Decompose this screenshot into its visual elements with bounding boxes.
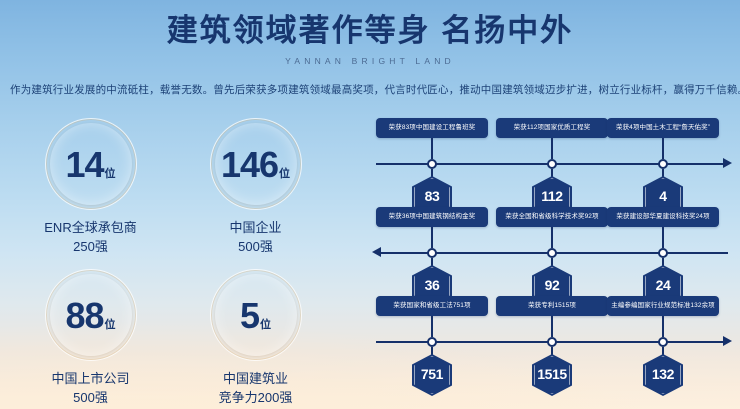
award-count-hexagon: 132	[643, 354, 683, 396]
node-stem	[431, 316, 433, 337]
medallion-ring	[210, 118, 302, 210]
node-stem	[662, 227, 664, 248]
award-count-hexagon: 751	[412, 354, 452, 396]
stat-medallion: 14 位	[45, 118, 137, 210]
award-count-hexagon: 1515	[532, 354, 572, 396]
stat-label-line1: ENR全球承包商	[44, 220, 136, 235]
description-text: 作为建筑行业发展的中流砥柱，载誉无数。曾先后荣获多项建筑领域最高奖项，代言时代匠…	[0, 82, 740, 97]
award-label: 荣获全国和省级科学技术奖92项	[496, 207, 608, 227]
node-dot-icon	[547, 159, 557, 169]
node-stem	[662, 138, 664, 159]
timeline-row: 荣获36项中国建筑钢结构金奖 36 荣获全国和省级科学技术奖92项	[372, 207, 732, 296]
stat-label: 中国企业 500强	[173, 219, 338, 257]
node-stem	[551, 138, 553, 159]
timeline-arrow-icon	[723, 158, 732, 168]
stat-label-line2: 竞争力200强	[173, 389, 338, 408]
stat-item: 88 位 中国上市公司 500强	[8, 269, 173, 408]
medallion-ring	[45, 269, 137, 361]
stat-label-line2: 250强	[8, 238, 173, 257]
award-label: 荣获112项国家优质工程奖	[496, 118, 608, 138]
stat-medallion: 146 位	[210, 118, 302, 210]
stat-label: 中国上市公司 500强	[8, 370, 173, 408]
stat-item: 146 位 中国企业 500强	[173, 118, 338, 257]
award-label: 荣获4项中国土木工程“詹天佑奖”	[607, 118, 719, 138]
award-label: 荣获建设部华夏建设科技奖24项	[607, 207, 719, 227]
award-label: 主编参编国家行业规范标准132余项	[607, 296, 719, 316]
timeline-node[interactable]: 荣获专利1515项 1515	[496, 296, 608, 316]
stat-item: 5 位 中国建筑业 竞争力200强	[173, 269, 338, 408]
award-label: 荣获83项中国建设工程鲁班奖	[376, 118, 488, 138]
timeline-arrow-icon	[372, 247, 381, 257]
award-count-value: 92	[545, 277, 560, 293]
stat-label: ENR全球承包商 250强	[8, 219, 173, 257]
timeline-node[interactable]: 主编参编国家行业规范标准132余项 132	[607, 296, 719, 316]
award-count-value: 112	[541, 188, 562, 204]
stat-item: 14 位 ENR全球承包商 250强	[8, 118, 173, 257]
node-dot-icon	[427, 248, 437, 258]
promo-banner: 建筑领域著作等身 名扬中外 YANNAN BRIGHT LAND 作为建筑行业发…	[0, 0, 740, 409]
header: 建筑领域著作等身 名扬中外 YANNAN BRIGHT LAND 作为建筑行业发…	[0, 0, 740, 97]
stat-label-line2: 500强	[173, 238, 338, 257]
award-count-value: 751	[421, 366, 443, 382]
stat-medallion: 5 位	[210, 269, 302, 361]
node-stem	[431, 227, 433, 248]
awards-timeline: 荣获83项中国建设工程鲁班奖 83 荣获112项国家优质工程奖	[372, 118, 732, 385]
award-count-value: 24	[656, 277, 671, 293]
node-stem	[551, 227, 553, 248]
award-label: 荣获专利1515项	[496, 296, 608, 316]
node-dot-icon	[658, 337, 668, 347]
brand-subtitle: YANNAN BRIGHT LAND	[0, 56, 740, 66]
award-count-value: 4	[659, 188, 666, 204]
node-stem	[551, 316, 553, 337]
timeline-node[interactable]: 荣获4项中国土木工程“詹天佑奖” 4	[607, 118, 719, 138]
stat-label-line1: 中国上市公司	[51, 371, 129, 386]
node-dot-icon	[658, 248, 668, 258]
timeline-arrow-icon	[723, 336, 732, 346]
stat-label: 中国建筑业 竞争力200强	[173, 370, 338, 408]
stat-label-line1: 中国企业	[229, 220, 281, 235]
award-count-value: 36	[425, 277, 440, 293]
node-dot-icon	[547, 337, 557, 347]
node-dot-icon	[427, 159, 437, 169]
timeline-node[interactable]: 荣获36项中国建筑钢结构金奖 36	[376, 207, 488, 227]
award-label: 荣获36项中国建筑钢结构金奖	[376, 207, 488, 227]
node-stem	[662, 316, 664, 337]
award-count-value: 132	[652, 366, 674, 382]
page-title: 建筑领域著作等身 名扬中外	[0, 13, 740, 49]
timeline-node[interactable]: 荣获83项中国建设工程鲁班奖 83	[376, 118, 488, 138]
award-count-value: 1515	[537, 366, 567, 382]
timeline-node[interactable]: 荣获112项国家优质工程奖 112	[496, 118, 608, 138]
stat-medallion: 88 位	[45, 269, 137, 361]
timeline-row: 荣获83项中国建设工程鲁班奖 83 荣获112项国家优质工程奖	[372, 118, 732, 207]
timeline-node[interactable]: 荣获全国和省级科学技术奖92项 92	[496, 207, 608, 227]
stat-label-line1: 中国建筑业	[223, 371, 288, 386]
node-dot-icon	[427, 337, 437, 347]
node-dot-icon	[547, 248, 557, 258]
award-count-value: 83	[425, 188, 440, 204]
award-label: 荣获国家和省级工法751项	[376, 296, 488, 316]
medallion-ring	[45, 118, 137, 210]
timeline-node[interactable]: 荣获国家和省级工法751项 751	[376, 296, 488, 316]
node-stem	[431, 138, 433, 159]
statistics-grid: 14 位 ENR全球承包商 250强 146 位	[8, 118, 338, 407]
timeline-node[interactable]: 荣获建设部华夏建设科技奖24项 24	[607, 207, 719, 227]
node-dot-icon	[658, 159, 668, 169]
timeline-row: 荣获国家和省级工法751项 751 荣获专利1515项	[372, 296, 732, 385]
stat-label-line2: 500强	[8, 389, 173, 408]
medallion-ring	[210, 269, 302, 361]
